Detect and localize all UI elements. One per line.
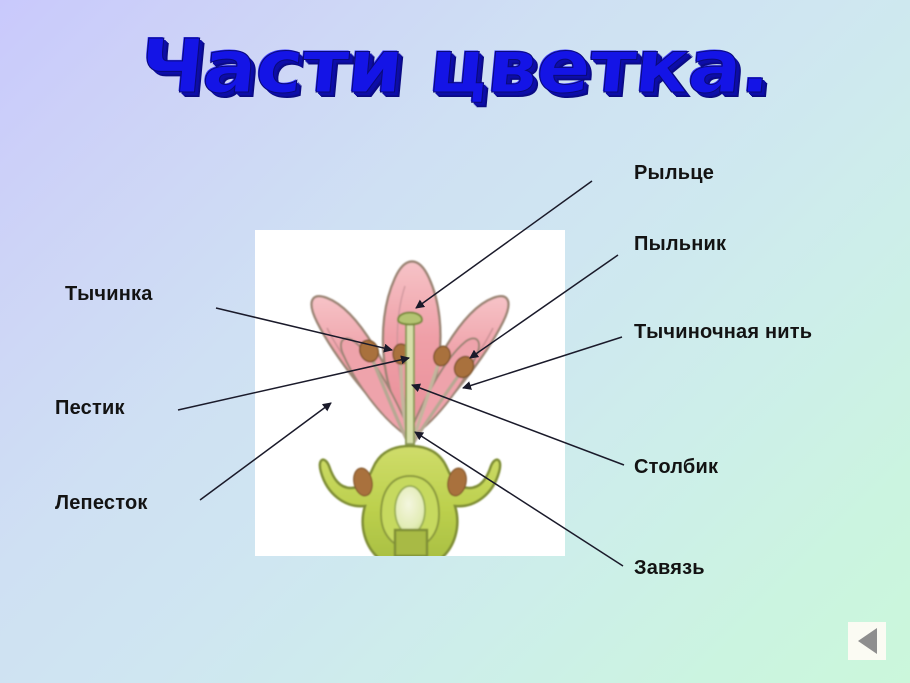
- label-stamen: Тычинка: [65, 283, 153, 305]
- slide-canvas: Части цветка.: [0, 0, 910, 683]
- label-ovary: Завязь: [634, 557, 705, 579]
- label-style: Столбик: [634, 456, 718, 478]
- page-title: Части цветка.: [135, 24, 774, 110]
- label-anther: Пыльник: [634, 233, 726, 255]
- flower-diagram-image: [255, 230, 565, 556]
- page-title-wrapper: Части цветка.: [0, 24, 910, 110]
- label-pistil: Пестик: [55, 397, 125, 419]
- label-stigma: Рыльце: [634, 162, 714, 184]
- label-filament: Тычиночная нить: [634, 321, 812, 343]
- back-navigation-button[interactable]: [848, 622, 886, 660]
- label-petal: Лепесток: [55, 492, 148, 514]
- triangle-left-icon: [858, 628, 877, 654]
